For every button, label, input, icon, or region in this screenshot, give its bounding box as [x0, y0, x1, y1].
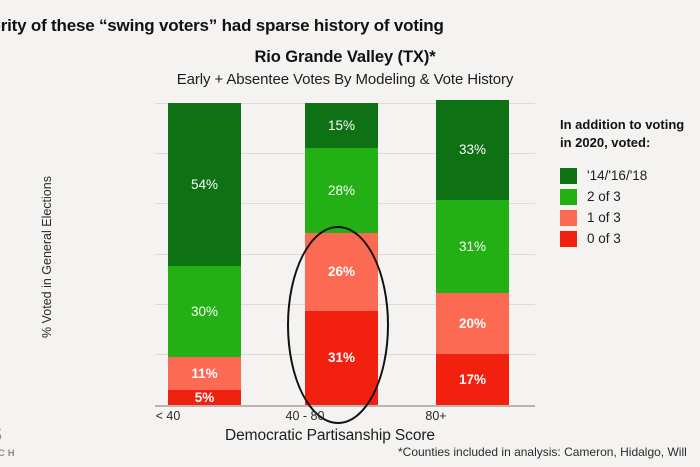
segment-value: 31%: [459, 240, 486, 254]
bar-lt40[interactable]: 54% 30% 11% 5%: [168, 103, 241, 405]
legend-item[interactable]: '14/'16/'18: [560, 165, 700, 186]
legend-item[interactable]: 1 of 3: [560, 207, 700, 228]
segment-value: 54%: [191, 178, 218, 192]
legend-item-label: 0 of 3: [587, 231, 621, 246]
bar-segment[interactable]: 31%: [436, 200, 509, 294]
legend-item-label: '14/'16/'18: [587, 168, 647, 183]
legend-items: '14/'16/'18 2 of 3 1 of 3 0 of 3: [560, 165, 700, 249]
bar-segment[interactable]: 15%: [305, 103, 378, 148]
bar-segment[interactable]: 31%: [305, 311, 378, 405]
legend-swatch-icon: [560, 168, 577, 184]
bar-segment[interactable]: 20%: [436, 293, 509, 353]
legend-item-label: 2 of 3: [587, 189, 621, 204]
bar-segment[interactable]: 28%: [305, 148, 378, 233]
legend-item-label: 1 of 3: [587, 210, 621, 225]
legend-title-line-1: In addition to voting: [560, 116, 700, 134]
x-tick-label: 40 - 80: [250, 409, 360, 423]
bar-80plus[interactable]: 33% 31% 20% 17%: [436, 100, 509, 405]
legend-swatch-icon: [560, 189, 577, 205]
segment-value: 17%: [459, 373, 486, 387]
watermark-top-text: S: [0, 424, 18, 445]
chart-title: Rio Grande Valley (TX)*: [130, 48, 560, 67]
legend-item[interactable]: 0 of 3: [560, 228, 700, 249]
bar-segment[interactable]: 17%: [436, 354, 509, 405]
x-axis-line: [155, 405, 535, 407]
watermark-bottom-text: RCH: [0, 448, 18, 459]
watermark-logo: S RCH: [0, 424, 18, 459]
bar-segment[interactable]: 54%: [168, 103, 241, 266]
bar-segment[interactable]: 5%: [168, 390, 241, 405]
y-axis-title: % Voted in General Elections: [40, 147, 54, 367]
legend-swatch-icon: [560, 231, 577, 247]
segment-value: 26%: [328, 265, 355, 279]
segment-value: 30%: [191, 305, 218, 319]
bar-segment[interactable]: 30%: [168, 266, 241, 357]
segment-value: 31%: [328, 351, 355, 365]
legend-item[interactable]: 2 of 3: [560, 186, 700, 207]
bar-segment[interactable]: 26%: [305, 233, 378, 312]
footnote: *Counties included in analysis: Cameron,…: [398, 445, 687, 459]
segment-value: 33%: [459, 143, 486, 157]
chart-subtitle: Early + Absentee Votes By Modeling & Vot…: [110, 71, 580, 88]
segment-value: 5%: [195, 391, 215, 405]
legend-swatch-icon: [560, 210, 577, 226]
legend: In addition to voting in 2020, voted: '1…: [560, 116, 700, 249]
bar-segment[interactable]: 11%: [168, 357, 241, 390]
headline: jority of these “swing voters” had spars…: [0, 16, 546, 36]
plot-area: 54% 30% 11% 5% 15% 28% 26% 31% 33% 31%: [155, 103, 535, 405]
legend-title-line-2: in 2020, voted:: [560, 134, 700, 152]
x-tick-label: 80+: [381, 409, 491, 423]
segment-value: 15%: [328, 119, 355, 133]
segment-value: 20%: [459, 317, 486, 331]
segment-value: 11%: [191, 367, 217, 381]
segment-value: 28%: [328, 184, 355, 198]
x-tick-label: < 40: [113, 409, 223, 423]
x-axis-title: Democratic Partisanship Score: [130, 427, 530, 445]
legend-title: In addition to voting in 2020, voted:: [560, 116, 700, 151]
bar-40-80[interactable]: 15% 28% 26% 31%: [305, 103, 378, 405]
bar-segment[interactable]: 33%: [436, 100, 509, 200]
